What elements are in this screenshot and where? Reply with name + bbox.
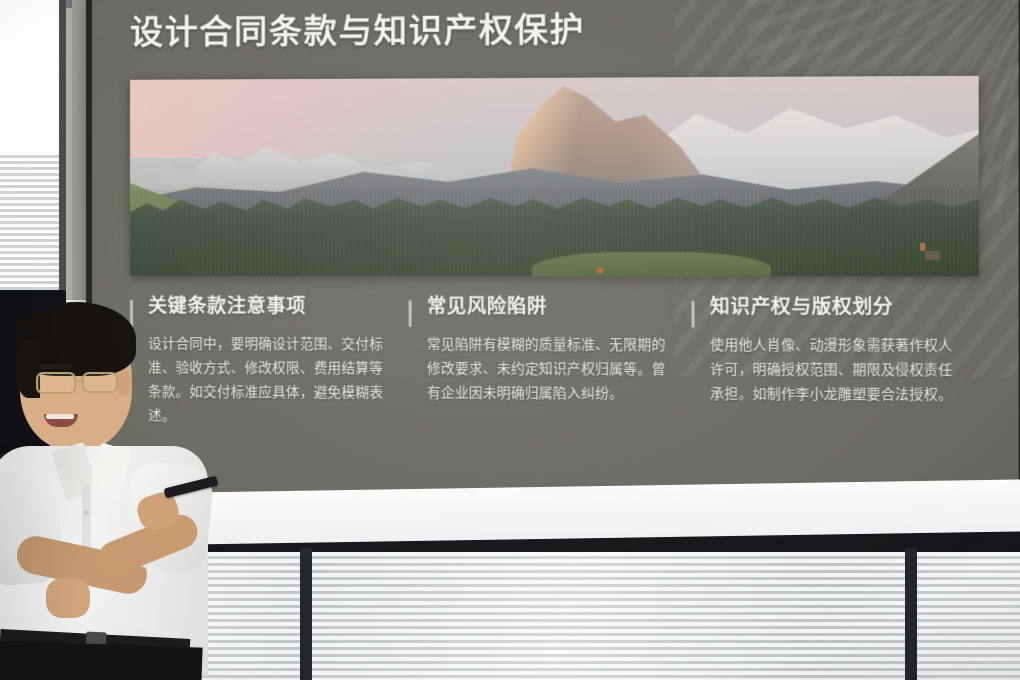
column-3-heading: 知识产权与版权划分: [710, 295, 979, 322]
slide-title: 设计合同条款与知识产权保护: [130, 9, 585, 53]
presenter: [0, 296, 248, 680]
left-window-glare: [0, 0, 59, 146]
window-mullion-left: [300, 548, 312, 680]
shirt-button: [84, 510, 89, 515]
eyeglasses-bridge: [75, 380, 84, 382]
photo-scene: 设计合同条款与知识产权保护: [0, 0, 1020, 680]
column-2-heading: 常见风险陷阱: [427, 294, 692, 320]
window-mullion-right: [905, 548, 917, 680]
presenter-ear: [116, 370, 132, 396]
column-2-body: 常见陷阱有模糊的质量标准、无限期的修改要求、未约定知识产权归属等。曾有企业因未明…: [427, 332, 673, 406]
presenter-teeth: [46, 414, 74, 419]
slide-column-3: 知识产权与版权划分 使用他人肖像、动漫形象需获著作权人许可，明确授权范围、期限及…: [691, 295, 978, 480]
column-3-body: 使用他人肖像、动漫形象需获著作权人许可，明确授权范围、期限及侵权责任承担。如制作…: [710, 333, 960, 407]
presenter-left-hand: [46, 578, 90, 618]
presenter-trousers: [0, 640, 203, 680]
column-accent-rule: [691, 301, 694, 327]
slide-column-2: 常见风险陷阱 常见陷阱有模糊的质量标准、无限期的修改要求、未约定知识产权归属等。…: [409, 294, 692, 477]
column-accent-rule: [409, 300, 412, 326]
presenter-eyebrow: [38, 364, 72, 369]
photo-atmospheric-haze: [130, 76, 979, 277]
eyeglasses-left-lens: [36, 372, 76, 394]
eyeglasses-right-lens: [82, 372, 118, 393]
hero-mountain-photo: [130, 76, 979, 277]
slide-columns: 关键条款注意事项 设计合同中，要明确设计范围、交付标准、验收方式、修改权限、费用…: [130, 294, 979, 479]
